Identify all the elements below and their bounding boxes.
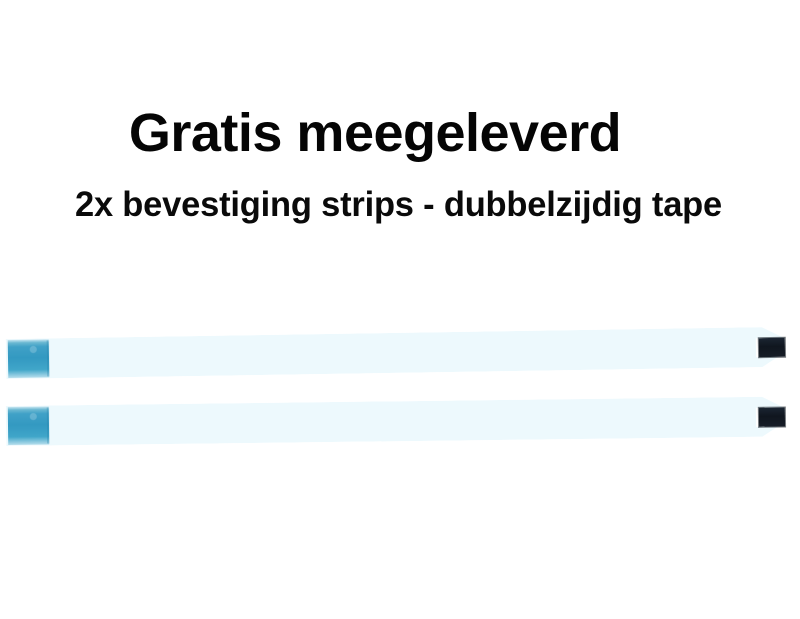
strip-halo-bottom <box>6 397 784 447</box>
adhesive-strip-bottom <box>8 399 782 444</box>
liner-tab-left-top <box>8 339 50 378</box>
strip-graphic-bottom <box>8 399 782 444</box>
promo-subtitle: 2x bevestiging strips - dubbelzijdig tap… <box>6 185 791 225</box>
adhesive-strip-top <box>8 329 782 377</box>
strip-halo-top <box>6 327 785 379</box>
promo-image-canvas: Gratis meegeleverd 2x bevestiging strips… <box>0 0 800 619</box>
liner-tab-left-bottom <box>8 407 49 445</box>
page-title: Gratis meegeleverd <box>0 104 750 162</box>
pull-tab-right-top <box>759 338 785 357</box>
liner-tab-edge-bottom <box>47 407 50 443</box>
liner-tab-edge-top <box>47 340 51 376</box>
pull-tab-right-bottom <box>759 408 785 427</box>
strip-graphic-top <box>8 329 782 377</box>
